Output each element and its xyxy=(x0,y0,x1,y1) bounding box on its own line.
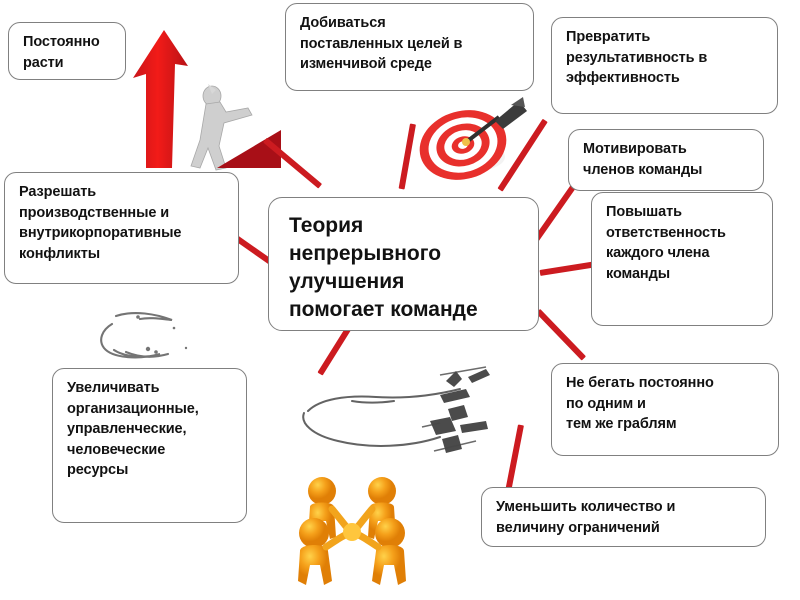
node-box-resources[interactable]: Увеличивать организационные, управленчес… xyxy=(52,368,247,523)
center-node-box[interactable]: Теория непрерывного улучшения помогает к… xyxy=(268,197,539,331)
node-box-goals[interactable]: Добиваться поставленных целей в изменчив… xyxy=(285,3,534,91)
node-box-effectiveness[interactable]: Превратить результативность в эффективно… xyxy=(551,17,778,114)
node-box-rakes[interactable]: Не бегать постоянно по одним и тем же гр… xyxy=(551,363,779,456)
node-box-responsibility[interactable]: Повышать ответственность каждого члена к… xyxy=(591,192,773,326)
orange-teamwork-figures-illustration xyxy=(288,473,416,595)
node-box-conflicts[interactable]: Разрешать производственные и внутрикорпо… xyxy=(4,172,239,284)
pencil-sketch-scribble xyxy=(86,306,206,368)
node-box-limits[interactable]: Уменьшить количество и величину ограниче… xyxy=(481,487,766,547)
node-box-grow[interactable]: Постоянно расти xyxy=(8,22,126,80)
connector-line-responsibility xyxy=(540,261,597,276)
connector-line-rakes xyxy=(536,309,586,361)
pencil-sketch-person-with-rake xyxy=(290,365,505,475)
connector-line-top-center xyxy=(399,123,416,189)
diagram-canvas: Постоянно расти Добиваться поставленных … xyxy=(0,0,800,600)
node-box-motivate[interactable]: Мотивировать членов команды xyxy=(568,129,764,191)
red-up-arrow-illustration xyxy=(130,28,194,168)
